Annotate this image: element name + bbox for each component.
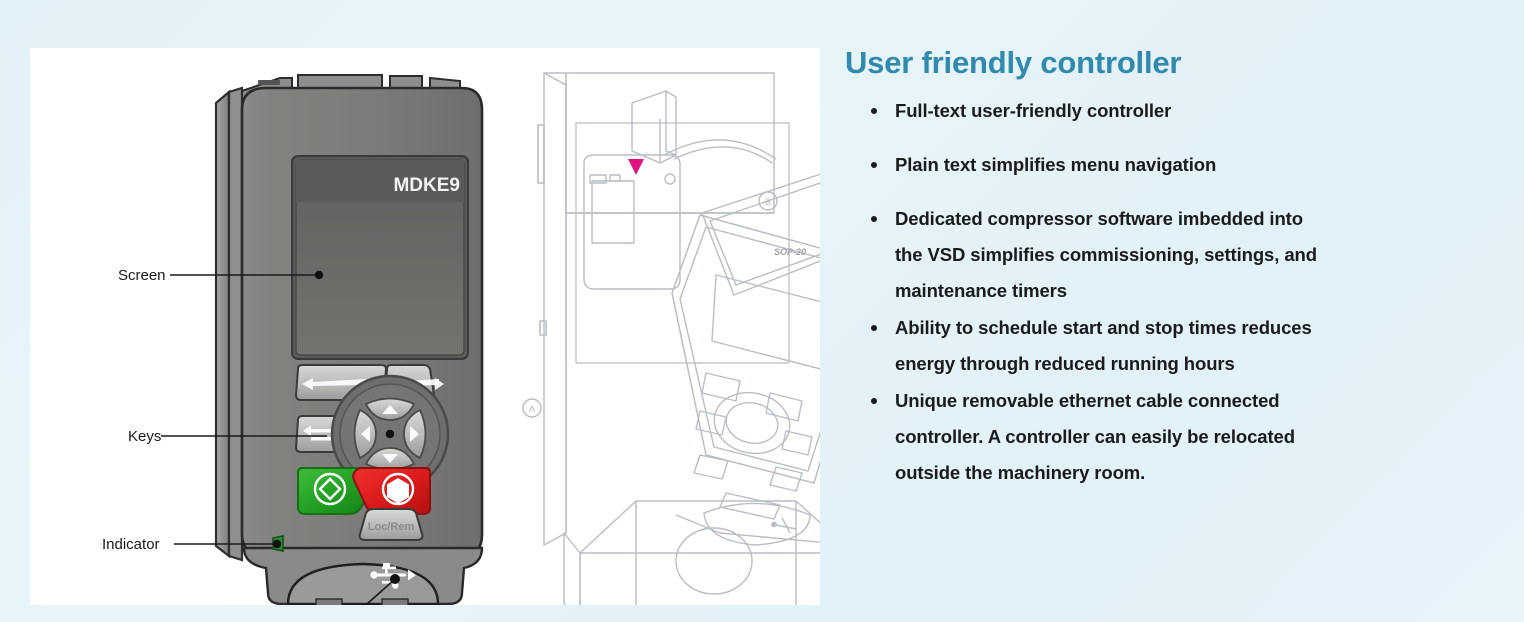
list-item: Full-text user-friendly controller [845, 93, 1505, 129]
list-item: Ability to schedule start and stop times… [845, 310, 1505, 382]
screen-model-label: MDKE9 [393, 175, 460, 196]
list-item: Dedicated compressor software imbedded i… [845, 201, 1505, 309]
keypad-left-shell-edge [216, 92, 229, 556]
list-item: Unique removable ethernet cable connecte… [845, 383, 1505, 491]
stop-icon [383, 474, 413, 504]
loc-rem-key-label: Loc/Rem [368, 521, 415, 533]
product-figure-panel: MDKE9 ? [30, 48, 820, 605]
callout-label-indicator: Indicator [102, 536, 160, 553]
reference-marker-b: B [765, 197, 771, 207]
slide-root: MDKE9 ? [0, 0, 1524, 622]
bullet-text: Full-text user-friendly controller [895, 100, 1171, 121]
callout-dot-usb [390, 574, 400, 584]
bullet-text: Ability to schedule start and stop times… [895, 317, 1312, 338]
bullet-text: controller. A controller can easily be r… [895, 426, 1295, 447]
page-title: User friendly controller [845, 44, 1505, 81]
callout-dot-keys [386, 430, 394, 438]
bullet-text: outside the machinery room. [895, 462, 1145, 483]
bullet-text: Plain text simplifies menu navigation [895, 154, 1216, 175]
list-item: Plain text simplifies menu navigation [845, 147, 1505, 183]
keypad-front-view: MDKE9 ? [216, 75, 482, 605]
bullet-text: the VSD simplifies commissioning, settin… [895, 244, 1317, 265]
callout-label-screen: Screen [118, 267, 166, 284]
feature-content: User friendly controller Full-text user-… [845, 44, 1505, 492]
alignment-arrow-icon [628, 159, 644, 175]
bullet-text: energy through reduced running hours [895, 353, 1235, 374]
keypad-left-shell-inner [229, 88, 242, 560]
bullet-text: Dedicated compressor software imbedded i… [895, 208, 1303, 229]
mounting-line-drawing [523, 73, 820, 605]
feature-bullet-list: Full-text user-friendly controller Plain… [845, 93, 1505, 491]
callout-label-keys: Keys [128, 428, 161, 445]
product-figure: MDKE9 ? [30, 48, 820, 605]
mounting-device-label: SOP-20 [774, 247, 806, 257]
reference-marker-a: A [529, 404, 535, 414]
callout-dot-indicator [273, 540, 281, 548]
bullet-text: Unique removable ethernet cable connecte… [895, 390, 1280, 411]
callout-dot-screen [315, 271, 323, 279]
bullet-text: maintenance timers [895, 280, 1067, 301]
